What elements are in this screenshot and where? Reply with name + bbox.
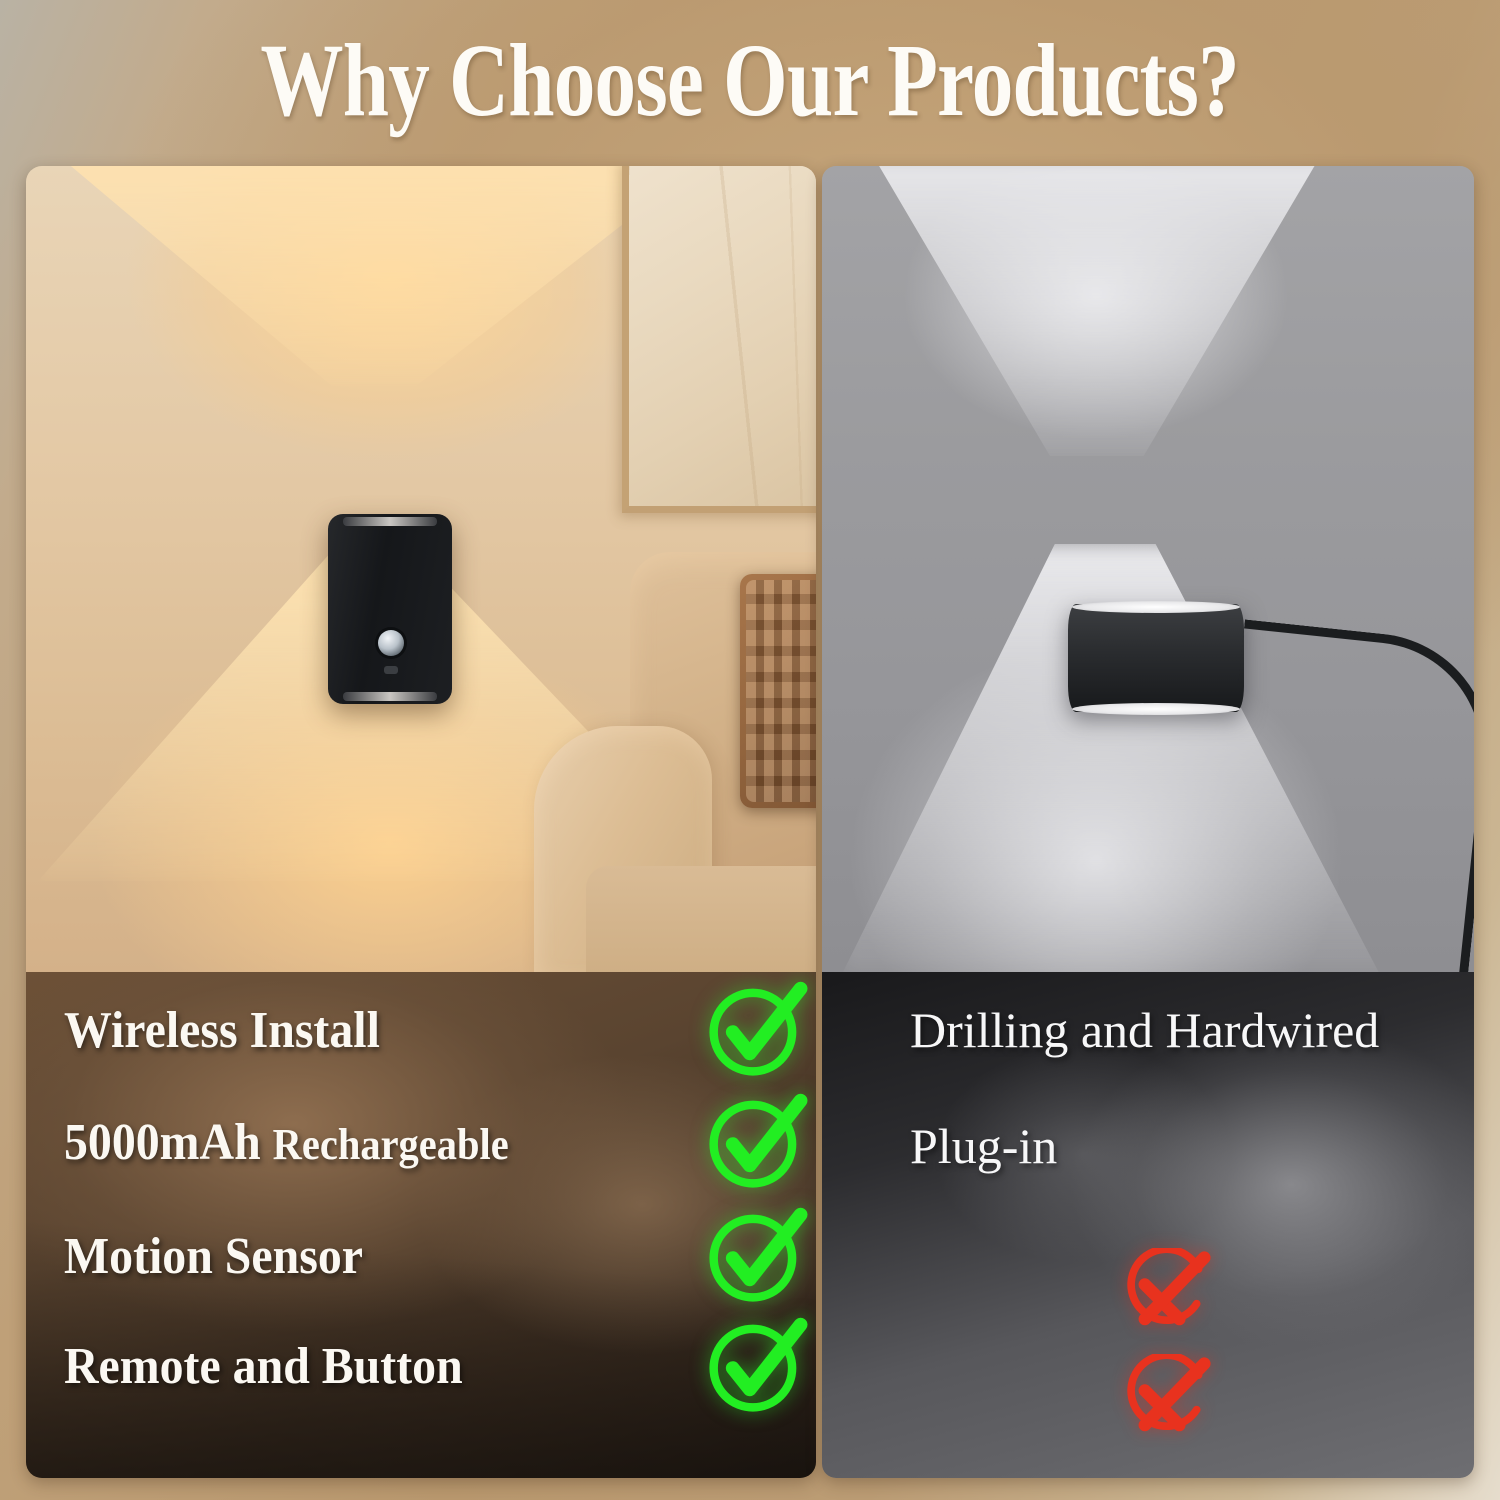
page-title: Why Choose Our Products? [0,18,1500,144]
lamp-button-icon [384,666,398,674]
wireless-wall-lamp [328,514,452,704]
drawback-label: Drilling and Hardwired [910,1001,1379,1059]
other-product-drawback-pane: Drilling and Hardwired Plug-in [822,972,1474,1478]
feature-label-rest: Rechargeable [273,1120,509,1169]
drawback-label: Plug-in [910,1117,1057,1175]
feature-list: Wireless Install 5000mAh Rechargeable [26,972,816,1478]
cross-circle-icon [1116,1354,1212,1450]
light-beam-up [842,166,1362,456]
feature-row: 5000mAh Rechargeable [26,1086,816,1198]
feature-row: Remote and Button [26,1310,816,1422]
our-product-column: Wireless Install 5000mAh Rechargeable [26,166,816,1478]
framed-artwork [622,166,816,513]
power-cable [1208,619,1474,972]
other-product-photo [822,166,1474,972]
feature-row: Motion Sensor [26,1200,816,1312]
drawback-row: Plug-in [822,1090,1474,1202]
check-circle-icon [702,1089,808,1195]
cross-circle-icon [1116,1248,1212,1344]
woven-pillow [740,574,816,808]
armchair-seat [586,866,816,972]
check-circle-icon [702,977,808,1083]
corded-wall-lamp [1068,604,1244,712]
check-circle-icon [702,1203,808,1309]
feature-label-capacity: 5000mAh [64,1114,261,1171]
feature-row: Wireless Install [26,974,816,1086]
page-title-text: Why Choose Our Products? [261,29,1240,133]
feature-label: Wireless Install [64,1001,380,1060]
our-product-feature-pane: Wireless Install 5000mAh Rechargeable [26,972,816,1478]
motion-sensor-icon [378,630,404,656]
feature-label: Remote and Button [64,1337,463,1396]
drawback-row: Drilling and Hardwired [822,974,1474,1086]
feature-label: Motion Sensor [64,1227,363,1286]
other-product-column: Drilling and Hardwired Plug-in [822,166,1474,1478]
feature-label: 5000mAh Rechargeable [64,1113,509,1172]
infographic-page: Why Choose Our Products? Wireless Instal… [0,0,1500,1500]
check-circle-icon [702,1313,808,1419]
our-product-photo [26,166,816,972]
